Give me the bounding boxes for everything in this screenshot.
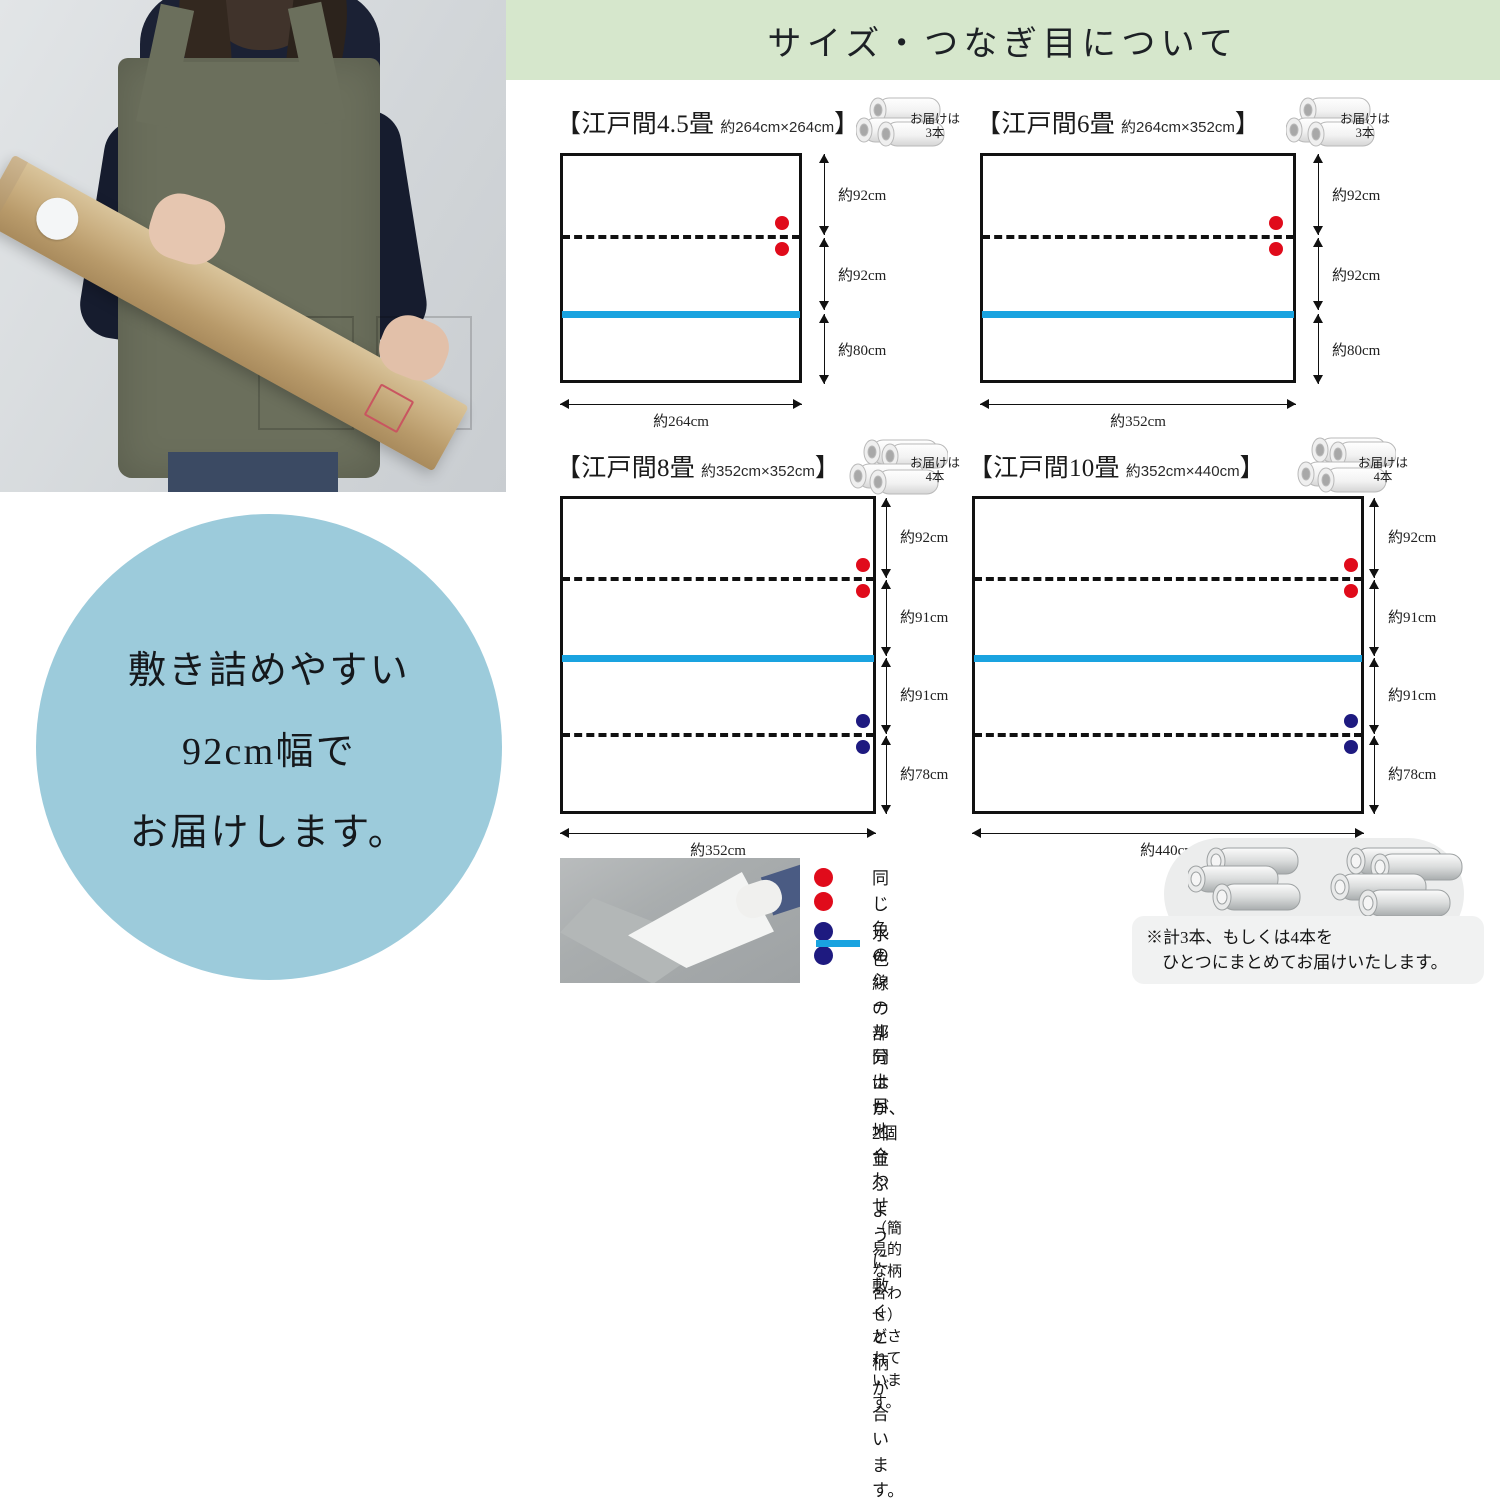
width-dim xyxy=(980,404,1296,405)
seal-dot-navy-lower xyxy=(856,740,870,754)
rolls-label-line2: 3本 xyxy=(900,126,970,140)
diagram-name: 【江戸間10畳 xyxy=(968,448,1120,484)
page-title: サイズ・つなぎ目について xyxy=(767,16,1238,65)
rolls-label-line1: お届けは xyxy=(1348,456,1418,470)
vlabel-2: 約91cm xyxy=(900,606,948,627)
diagram-title: 【江戸間10畳 約352cm×440cm 】 xyxy=(968,448,1265,484)
diagram-dimensions: 約264cm×264cm xyxy=(720,116,834,137)
diagram-name: 【江戸間6畳 xyxy=(976,104,1115,140)
seal-dot-navy-upper xyxy=(856,714,870,728)
vlabel-2: 約91cm xyxy=(1388,606,1436,627)
cyan-seam-line xyxy=(982,311,1294,318)
legend-dot-navy-1 xyxy=(814,922,833,941)
diagram-edoma-4p5: 【江戸間4.5畳 約264cm×264cm 】 お届けは 3本 約92cm 約9… xyxy=(556,104,916,424)
vlabel-1: 約92cm xyxy=(900,526,948,547)
vlabel-1: 約92cm xyxy=(1388,526,1436,547)
seam-dash-1 xyxy=(562,235,800,239)
seal-dot-navy-upper xyxy=(1344,714,1358,728)
seam-dash-2 xyxy=(562,733,874,737)
seal-dot-red-lower xyxy=(775,242,789,256)
diagram-title: 【江戸間4.5畳 約264cm×264cm 】 xyxy=(556,104,859,140)
width-dim xyxy=(560,404,802,405)
red-stamp xyxy=(364,383,415,433)
diagram-name: 【江戸間8畳 xyxy=(556,448,695,484)
highlight-line-2: 92cm幅で xyxy=(182,720,356,775)
rolls-label-line1: お届けは xyxy=(900,456,970,470)
vdim-2 xyxy=(1374,580,1375,656)
rolls-label-line2: 4本 xyxy=(900,470,970,484)
note-line-1: ※計3本、もしくは4本を xyxy=(1146,925,1484,951)
highlight-circle: 敷き詰めやすい 92cm幅で お届けします。 xyxy=(36,514,502,980)
vdim-3 xyxy=(1374,658,1375,734)
product-photo xyxy=(0,0,506,492)
vdim-1 xyxy=(1318,154,1319,235)
diagram-dimensions: 約352cm×352cm xyxy=(701,460,815,481)
rolls-label: お届けは 3本 xyxy=(900,112,970,141)
seam-dash-1 xyxy=(982,235,1294,239)
legend-dot-navy-2 xyxy=(814,946,833,965)
cyan-seam-line xyxy=(974,655,1362,662)
vlabel-3: 約80cm xyxy=(1332,339,1380,360)
rolls-label: お届けは 3本 xyxy=(1330,112,1400,141)
vlabel-3: 約80cm xyxy=(838,339,886,360)
width-label: 約264cm xyxy=(560,410,802,431)
vdim-1 xyxy=(886,498,887,578)
vlabel-4: 約78cm xyxy=(900,763,948,784)
vdim-4 xyxy=(886,736,887,814)
vlabel-1: 約92cm xyxy=(1332,184,1380,205)
apron-bib xyxy=(172,62,322,172)
flooring-sheet-photo xyxy=(560,858,800,983)
diagram-dimensions: 約264cm×352cm xyxy=(1121,116,1235,137)
note-line-2: ひとつにまとめてお届けいたします。 xyxy=(1146,950,1484,976)
seal-dot-red-lower xyxy=(1344,584,1358,598)
seal-dot-red-upper xyxy=(856,558,870,572)
seam-dash-1 xyxy=(974,577,1362,581)
vdim-4 xyxy=(1374,736,1375,814)
vlabel-2: 約92cm xyxy=(838,264,886,285)
legend-line-line2: （簡易的な柄合わせ）がされています。 xyxy=(872,1219,902,1415)
vdim-3 xyxy=(1318,314,1319,384)
seal-dot-red-upper xyxy=(775,216,789,230)
highlight-line-3: お届けします。 xyxy=(130,801,408,856)
vlabel-4: 約78cm xyxy=(1388,763,1436,784)
room-box xyxy=(980,153,1296,383)
vlabel-1: 約92cm xyxy=(838,184,886,205)
diagram-title: 【江戸間8畳 約352cm×352cm 】 xyxy=(556,448,840,484)
legend-line-line1: 水色線の部分は目地合わせ xyxy=(872,923,902,1219)
legend-dot-red-2 xyxy=(814,892,833,911)
diagram-bracket: 】 xyxy=(1240,448,1265,484)
seal-dot-red-upper xyxy=(1269,216,1283,230)
vdim-3 xyxy=(824,314,825,384)
rolls-label: お届けは 4本 xyxy=(900,456,970,485)
legend-line-text: 水色線の部分は目地合わせ （簡易的な柄合わせ）がされています。 xyxy=(872,923,902,1414)
vdim-3 xyxy=(886,658,887,734)
vdim-2 xyxy=(886,580,887,656)
width-label: 約352cm xyxy=(560,839,876,860)
delivery-note-area: ※計3本、もしくは4本を ひとつにまとめてお届けいたします。 xyxy=(1132,838,1492,988)
diagram-edoma-6: 【江戸間6畳 約264cm×352cm 】 お届けは 3本 約92cm 約92c… xyxy=(976,104,1416,424)
width-label: 約352cm xyxy=(980,410,1296,431)
header-band: サイズ・つなぎ目について xyxy=(506,0,1500,80)
legend-dots-group xyxy=(814,868,839,970)
diagram-dimensions: 約352cm×440cm xyxy=(1126,460,1240,481)
seal-dot-red-lower xyxy=(856,584,870,598)
rolls-label: お届けは 4本 xyxy=(1348,456,1418,485)
legend-cyan-bar xyxy=(816,940,860,947)
rolls-label-line2: 4本 xyxy=(1348,470,1418,484)
rolls-label-line1: お届けは xyxy=(1330,112,1400,126)
vlabel-3: 約91cm xyxy=(1388,684,1436,705)
diagram-edoma-8: 【江戸間8畳 約352cm×352cm 】 お届けは 4本 約92cm 約91c… xyxy=(556,448,956,848)
diagram-title: 【江戸間6畳 約264cm×352cm 】 xyxy=(976,104,1260,140)
seal-dot-red-upper xyxy=(1344,558,1358,572)
highlight-line-1: 敷き詰めやすい xyxy=(128,639,410,694)
delivery-note-box: ※計3本、もしくは4本を ひとつにまとめてお届けいたします。 xyxy=(1132,916,1484,984)
vlabel-2: 約92cm xyxy=(1332,264,1380,285)
room-box xyxy=(560,153,802,383)
vlabel-3: 約91cm xyxy=(900,684,948,705)
diagram-bracket: 】 xyxy=(1235,104,1260,140)
diagram-bracket: 】 xyxy=(815,448,840,484)
vdim-1 xyxy=(1374,498,1375,578)
round-sticker xyxy=(29,190,86,247)
rolls-label-line1: お届けは xyxy=(900,112,970,126)
cyan-seam-line xyxy=(562,655,874,662)
vdim-2 xyxy=(1318,238,1319,310)
diagram-edoma-10: 【江戸間10畳 約352cm×440cm 】 お届けは 4本 約92cm 約91… xyxy=(968,448,1448,848)
seal-dot-navy-lower xyxy=(1344,740,1358,754)
jeans xyxy=(168,452,338,492)
width-dim xyxy=(560,833,876,834)
diagram-name: 【江戸間4.5畳 xyxy=(556,104,714,140)
width-dim xyxy=(972,833,1364,834)
rolls-label-line2: 3本 xyxy=(1330,126,1400,140)
vdim-1 xyxy=(824,154,825,235)
seal-dot-red-lower xyxy=(1269,242,1283,256)
vdim-2 xyxy=(824,238,825,310)
legend-dot-red-1 xyxy=(814,868,833,887)
seam-dash-2 xyxy=(974,733,1362,737)
seam-dash-1 xyxy=(562,577,874,581)
cyan-seam-line xyxy=(562,311,800,318)
